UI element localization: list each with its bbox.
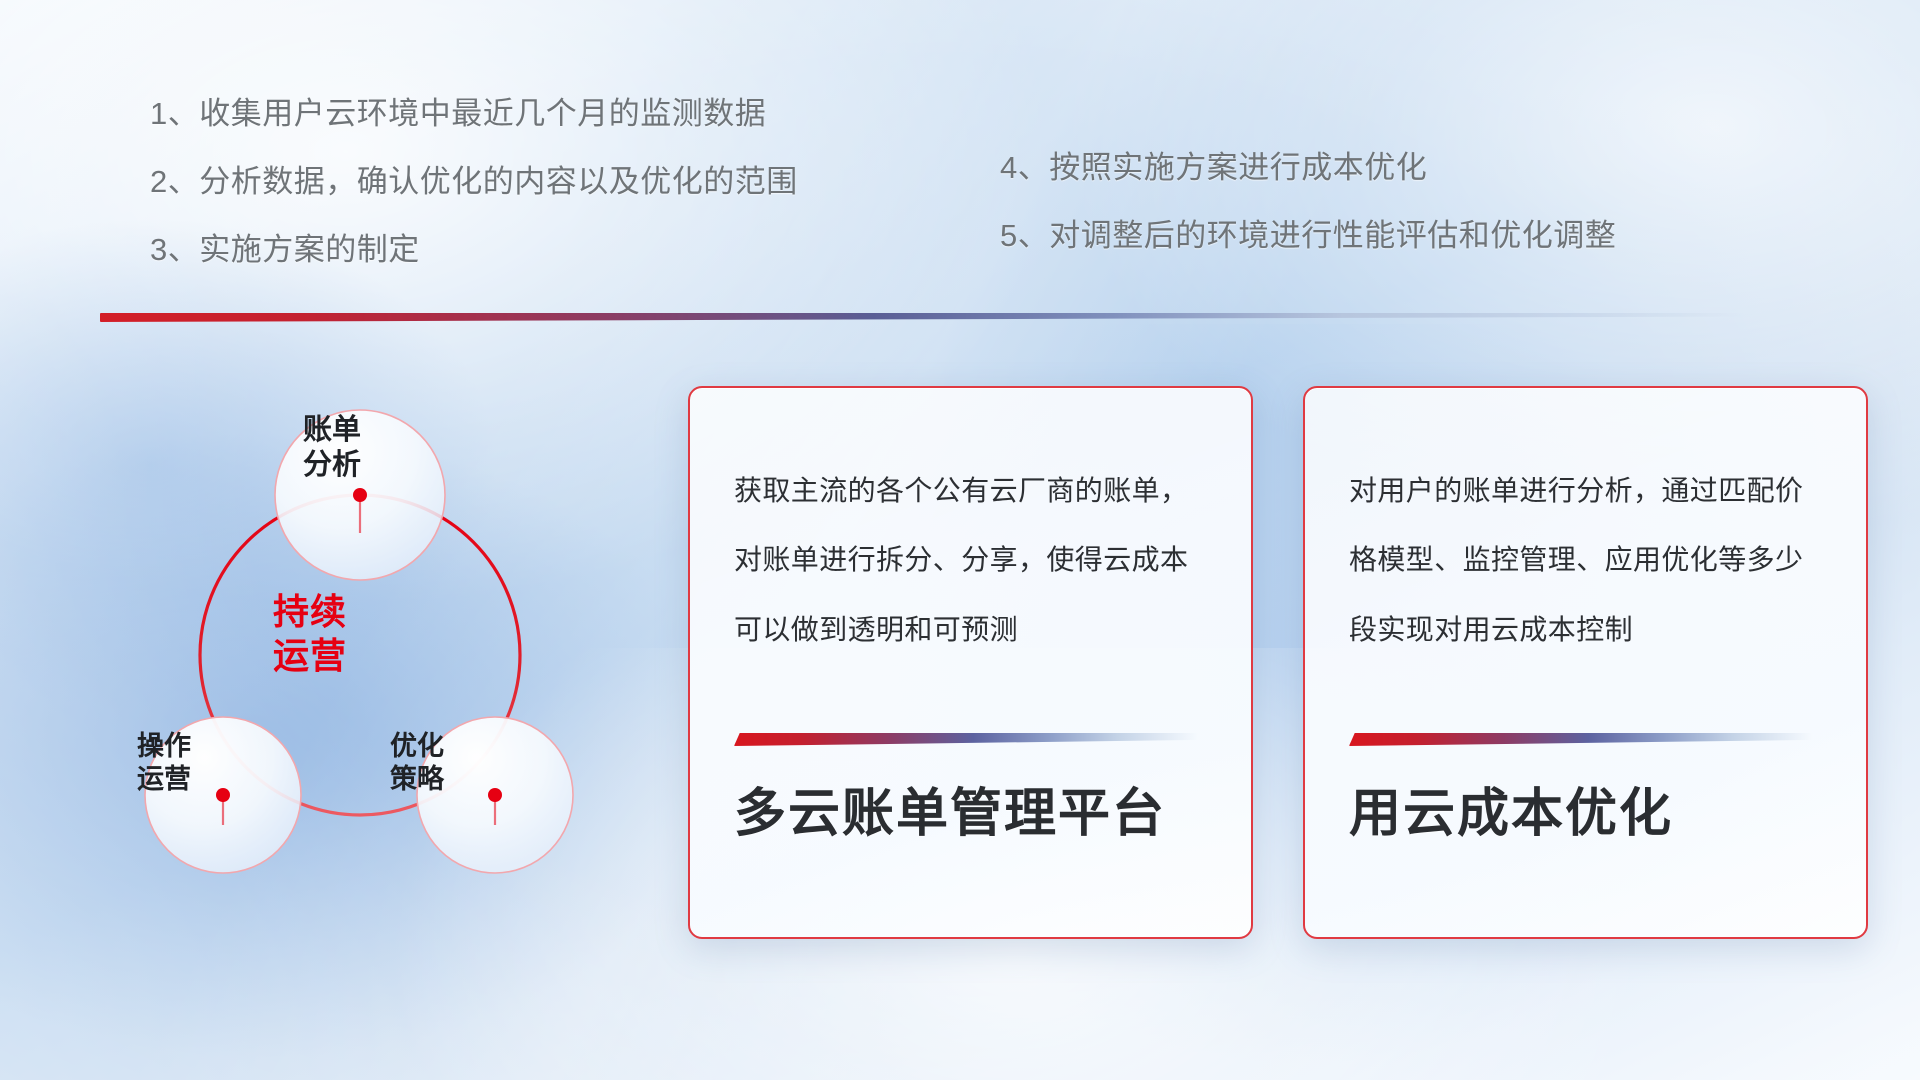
feature-card-description: 对用户的账单进行分析，通过匹配价格模型、监控管理、应用优化等多少段实现对用云成本…	[1349, 456, 1827, 664]
feature-card-divider	[734, 733, 1212, 746]
cycle-node-bottom-left-label: 操作 运营	[137, 730, 191, 796]
cycle-diagram: 账单 分析 操作 运营 优化 策略 持续 运营	[95, 355, 625, 955]
cycle-node-bottom-right-label-line2: 策略	[390, 763, 444, 796]
cycle-dot-bottom-left	[216, 788, 230, 802]
cycle-center-label: 持续 运营	[273, 590, 347, 678]
feature-cards: 获取主流的各个公有云厂商的账单，对账单进行拆分、分享，使得云成本可以做到透明和可…	[688, 386, 1868, 956]
step-item-4: 4、按照实施方案进行成本优化	[1000, 152, 1616, 183]
steps-section: 1、收集用户云环境中最近几个月的监测数据 2、分析数据，确认优化的内容以及优化的…	[0, 0, 1920, 300]
step-item-5: 5、对调整后的环境进行性能评估和优化调整	[1000, 220, 1616, 251]
feature-card[interactable]: 获取主流的各个公有云厂商的账单，对账单进行拆分、分享，使得云成本可以做到透明和可…	[688, 386, 1253, 939]
feature-card-title: 用云成本优化	[1349, 783, 1827, 845]
cycle-dot-top	[353, 488, 367, 502]
cycle-node-top-label-line1: 账单	[303, 413, 361, 448]
section-divider-bar	[100, 313, 1780, 322]
step-item-1: 1、收集用户云环境中最近几个月的监测数据	[150, 98, 798, 129]
feature-card-divider	[1349, 733, 1827, 746]
cycle-node-bottom-right-label-line1: 优化	[390, 730, 444, 763]
steps-right-column: 4、按照实施方案进行成本优化 5、对调整后的环境进行性能评估和优化调整	[1000, 152, 1616, 288]
section-divider	[100, 313, 1780, 327]
cycle-dot-bottom-right	[488, 788, 502, 802]
step-item-2: 2、分析数据，确认优化的内容以及优化的范围	[150, 166, 798, 197]
steps-left-column: 1、收集用户云环境中最近几个月的监测数据 2、分析数据，确认优化的内容以及优化的…	[150, 98, 798, 302]
cycle-node-top-label: 账单 分析	[303, 413, 361, 484]
feature-card-title: 多云账单管理平台	[734, 783, 1212, 845]
cycle-center-label-line1: 持续	[273, 590, 347, 634]
feature-card[interactable]: 对用户的账单进行分析，通过匹配价格模型、监控管理、应用优化等多少段实现对用云成本…	[1303, 386, 1868, 939]
step-item-3: 3、实施方案的制定	[150, 234, 798, 265]
feature-card-description: 获取主流的各个公有云厂商的账单，对账单进行拆分、分享，使得云成本可以做到透明和可…	[734, 456, 1212, 664]
cycle-node-bottom-right-label: 优化 策略	[390, 730, 444, 796]
cycle-node-bottom-left-label-line1: 操作	[137, 730, 191, 763]
cycle-node-bottom-left-label-line2: 运营	[137, 763, 191, 796]
cycle-node-top-label-line2: 分析	[303, 448, 361, 483]
cycle-center-label-line2: 运营	[273, 634, 347, 678]
